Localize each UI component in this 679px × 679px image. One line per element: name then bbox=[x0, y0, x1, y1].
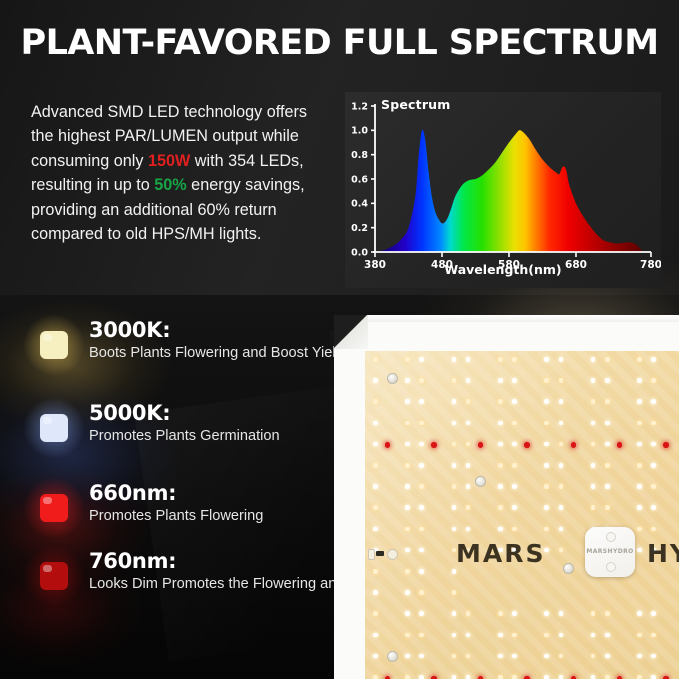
spec-item-5000k: 5000K: Promotes Plants Germination bbox=[31, 401, 280, 451]
led-dot bbox=[544, 633, 549, 638]
chart-xlabel: Wavelength(nm) bbox=[345, 262, 661, 277]
panel-driver-module: MARSHYDRO bbox=[585, 527, 635, 577]
led-dot bbox=[544, 611, 549, 616]
led-dot bbox=[498, 378, 503, 383]
led-dot bbox=[373, 378, 378, 383]
product-infographic: PLANT-FAVORED FULL SPECTRUM Advanced SMD… bbox=[0, 0, 679, 679]
led-dot bbox=[591, 463, 596, 468]
page-title: PLANT-FAVORED FULL SPECTRUM bbox=[0, 23, 679, 63]
led-dot bbox=[637, 463, 642, 468]
led-dot bbox=[605, 357, 610, 362]
spec-title-660nm: 660nm: bbox=[89, 481, 263, 505]
led-dot-red bbox=[478, 676, 483, 679]
led-dot bbox=[373, 590, 378, 595]
led-dot bbox=[373, 569, 378, 574]
led-dot bbox=[651, 633, 656, 638]
led-dot-red bbox=[524, 676, 529, 679]
board-screw bbox=[475, 476, 486, 487]
led-dot bbox=[605, 505, 610, 510]
board-screw bbox=[387, 651, 398, 662]
led-dot bbox=[512, 357, 517, 362]
spec-title-5000k: 5000K: bbox=[89, 401, 280, 425]
led-dot bbox=[512, 463, 517, 468]
led-dot bbox=[637, 399, 642, 404]
svg-text:0.0: 0.0 bbox=[351, 247, 368, 258]
led-dot-red bbox=[663, 676, 668, 679]
led-dot bbox=[637, 505, 642, 510]
led-dot bbox=[466, 357, 471, 362]
spectrum-chart: 0.00.20.40.60.81.01.2380480580680780 Spe… bbox=[345, 92, 661, 288]
spec-title-3000k: 3000K: bbox=[89, 318, 351, 342]
led-dot-red bbox=[431, 442, 436, 447]
led-dot bbox=[637, 675, 642, 679]
chart-plot-area bbox=[375, 130, 643, 252]
led-dot bbox=[498, 484, 503, 489]
led-dot bbox=[373, 421, 378, 426]
led-dot bbox=[637, 527, 642, 532]
led-panel-body: MARS HY MARSHYDRO bbox=[334, 315, 679, 679]
led-dot bbox=[373, 357, 378, 362]
board-screw bbox=[563, 563, 574, 574]
led-dot bbox=[498, 421, 503, 426]
led-board bbox=[365, 351, 679, 679]
description-paragraph: Advanced SMD LED technology offers the h… bbox=[31, 100, 327, 246]
led-dot bbox=[651, 675, 656, 679]
led-dot bbox=[466, 463, 471, 468]
led-dot bbox=[512, 378, 517, 383]
led-dot bbox=[405, 569, 410, 574]
led-dot bbox=[651, 357, 656, 362]
led-dot bbox=[498, 675, 503, 679]
led-dot bbox=[419, 378, 424, 383]
led-dot bbox=[651, 463, 656, 468]
led-dot bbox=[512, 421, 517, 426]
led-dot bbox=[651, 421, 656, 426]
led-dot bbox=[373, 611, 378, 616]
led-swatch-760nm bbox=[31, 553, 77, 599]
led-dot bbox=[637, 611, 642, 616]
led-dot bbox=[405, 675, 410, 679]
led-dot bbox=[544, 421, 549, 426]
chart-title: Spectrum bbox=[381, 97, 451, 112]
power-highlight: 150W bbox=[148, 152, 190, 170]
led-dot bbox=[452, 484, 457, 489]
led-dot bbox=[419, 421, 424, 426]
led-dot bbox=[419, 399, 424, 404]
led-dot bbox=[544, 378, 549, 383]
led-dot bbox=[498, 463, 503, 468]
led-dot bbox=[405, 633, 410, 638]
led-dot bbox=[559, 675, 564, 679]
led-dot bbox=[637, 378, 642, 383]
led-dot bbox=[559, 378, 564, 383]
led-dot bbox=[452, 378, 457, 383]
led-dot bbox=[605, 378, 610, 383]
led-dot bbox=[373, 484, 378, 489]
led-dot bbox=[452, 569, 457, 574]
spec-desc-5000k: Promotes Plants Germination bbox=[89, 427, 280, 446]
led-dot bbox=[466, 675, 471, 679]
spec-item-3000k: 3000K: Boots Plants Flowering and Boost … bbox=[31, 318, 351, 368]
led-dot bbox=[559, 357, 564, 362]
led-dot bbox=[373, 527, 378, 532]
led-dot bbox=[373, 442, 378, 447]
led-dot bbox=[452, 611, 457, 616]
led-dot bbox=[452, 675, 457, 679]
led-dot bbox=[419, 357, 424, 362]
led-dot bbox=[405, 484, 410, 489]
led-dot bbox=[651, 527, 656, 532]
led-dot-red bbox=[571, 676, 576, 679]
led-dot bbox=[512, 611, 517, 616]
led-dot bbox=[405, 505, 410, 510]
spec-desc-3000k: Boots Plants Flowering and Boost Yields bbox=[89, 344, 351, 363]
led-dot bbox=[373, 399, 378, 404]
svg-text:0.2: 0.2 bbox=[351, 223, 368, 234]
svg-text:1.2: 1.2 bbox=[351, 101, 368, 112]
svg-text:0.8: 0.8 bbox=[351, 150, 368, 161]
led-dot bbox=[591, 675, 596, 679]
led-dot bbox=[544, 505, 549, 510]
board-screw bbox=[387, 373, 398, 384]
spec-item-660nm: 660nm: Promotes Plants Flowering bbox=[31, 481, 263, 531]
led-dot bbox=[405, 357, 410, 362]
led-dot bbox=[452, 463, 457, 468]
led-dot bbox=[651, 505, 656, 510]
led-dot bbox=[498, 527, 503, 532]
led-dot bbox=[637, 484, 642, 489]
panel-connector bbox=[368, 548, 394, 559]
led-dot bbox=[605, 611, 610, 616]
led-dot bbox=[605, 484, 610, 489]
led-dot bbox=[605, 442, 610, 447]
led-dot bbox=[544, 527, 549, 532]
led-dot bbox=[419, 590, 424, 595]
led-dot bbox=[452, 357, 457, 362]
brand-text-left: MARS bbox=[456, 539, 545, 568]
led-dot bbox=[559, 484, 564, 489]
led-dot bbox=[405, 378, 410, 383]
led-dot bbox=[498, 442, 503, 447]
svg-text:0.6: 0.6 bbox=[351, 174, 368, 185]
led-dot bbox=[373, 675, 378, 679]
led-dot bbox=[405, 611, 410, 616]
led-dot bbox=[591, 357, 596, 362]
led-dot bbox=[512, 675, 517, 679]
led-dot bbox=[605, 421, 610, 426]
led-dot bbox=[559, 463, 564, 468]
spectrum-curve bbox=[375, 130, 643, 252]
module-label: MARSHYDRO bbox=[585, 548, 635, 555]
savings-highlight: 50% bbox=[154, 176, 186, 194]
led-swatch-3000k bbox=[31, 322, 77, 368]
led-dot bbox=[452, 399, 457, 404]
led-dot bbox=[512, 505, 517, 510]
led-dot bbox=[559, 611, 564, 616]
led-dot-red bbox=[524, 442, 529, 447]
led-dot bbox=[544, 675, 549, 679]
led-dot bbox=[405, 590, 410, 595]
led-dot bbox=[373, 633, 378, 638]
led-dot bbox=[559, 505, 564, 510]
led-dot bbox=[559, 399, 564, 404]
led-dot bbox=[544, 484, 549, 489]
led-dot bbox=[498, 654, 503, 659]
led-dot bbox=[419, 505, 424, 510]
spectrum-chart-svg: 0.00.20.40.60.81.01.2380480580680780 bbox=[345, 92, 661, 288]
led-dot bbox=[512, 484, 517, 489]
brand-text-right: HY bbox=[647, 539, 679, 568]
led-dot-red bbox=[571, 442, 576, 447]
led-dot bbox=[373, 654, 378, 659]
led-dot bbox=[405, 527, 410, 532]
led-dot bbox=[544, 399, 549, 404]
led-swatch-5000k bbox=[31, 405, 77, 451]
led-dot bbox=[419, 569, 424, 574]
led-dot bbox=[605, 463, 610, 468]
panel-corner-bevel bbox=[334, 315, 368, 349]
led-dot bbox=[498, 633, 503, 638]
led-dot bbox=[498, 357, 503, 362]
led-dot bbox=[651, 484, 656, 489]
led-dot bbox=[498, 399, 503, 404]
led-dot bbox=[651, 399, 656, 404]
led-dot-red bbox=[385, 442, 390, 447]
led-swatch-660nm bbox=[31, 485, 77, 531]
led-dot bbox=[452, 505, 457, 510]
led-dot bbox=[419, 484, 424, 489]
led-dot bbox=[512, 527, 517, 532]
svg-text:0.4: 0.4 bbox=[351, 199, 368, 210]
led-dot bbox=[605, 654, 610, 659]
led-dot bbox=[405, 399, 410, 404]
led-dot bbox=[405, 463, 410, 468]
led-dot-red bbox=[617, 442, 622, 447]
led-dot bbox=[651, 611, 656, 616]
led-dot bbox=[637, 357, 642, 362]
led-dot bbox=[419, 463, 424, 468]
led-dot bbox=[419, 633, 424, 638]
led-dot bbox=[605, 675, 610, 679]
led-dot bbox=[512, 633, 517, 638]
led-dot bbox=[637, 421, 642, 426]
led-dot bbox=[651, 378, 656, 383]
led-dot bbox=[605, 633, 610, 638]
led-dot-red bbox=[663, 442, 668, 447]
led-dot bbox=[605, 399, 610, 404]
spec-desc-660nm: Promotes Plants Flowering bbox=[89, 507, 263, 526]
svg-text:1.0: 1.0 bbox=[351, 126, 368, 137]
led-dot bbox=[498, 505, 503, 510]
led-dot bbox=[544, 357, 549, 362]
led-dot bbox=[373, 505, 378, 510]
led-dot bbox=[452, 590, 457, 595]
led-dot bbox=[498, 611, 503, 616]
led-dot bbox=[637, 633, 642, 638]
led-dot bbox=[419, 675, 424, 679]
led-dot bbox=[373, 463, 378, 468]
led-dot bbox=[544, 463, 549, 468]
led-dot bbox=[419, 527, 424, 532]
led-panel-image: MARS HY MARSHYDRO bbox=[334, 315, 679, 679]
led-dot bbox=[405, 421, 410, 426]
led-dot-red bbox=[431, 676, 436, 679]
led-dot bbox=[512, 399, 517, 404]
led-dot-red bbox=[478, 442, 483, 447]
led-dot bbox=[419, 611, 424, 616]
